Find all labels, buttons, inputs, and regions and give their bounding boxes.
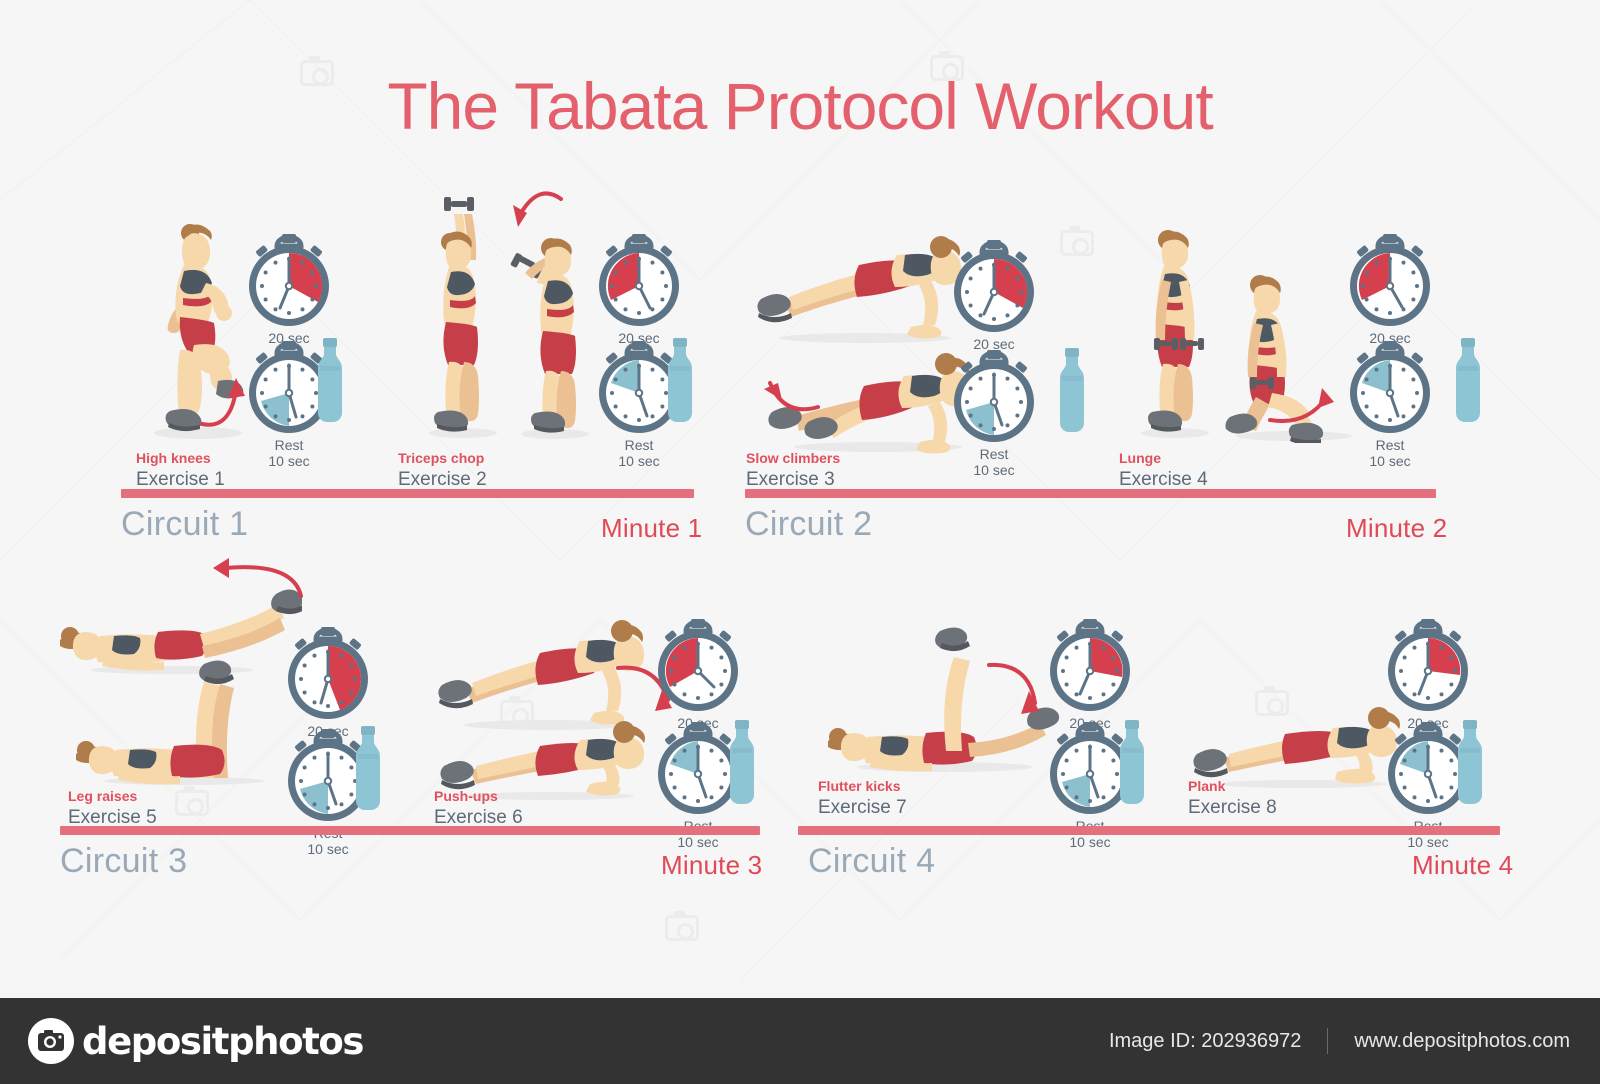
brand-logo[interactable]: depositphotos	[28, 1018, 363, 1064]
footer-bar: depositphotos Image ID: 202936972 www.de…	[0, 998, 1600, 1084]
circuit-label: Circuit 4	[808, 842, 935, 881]
water-bottle-icon	[1450, 720, 1490, 805]
exercise-caption-4: Lunge Exercise 4	[1119, 450, 1208, 491]
exercise-number: Exercise 3	[746, 468, 840, 492]
figure-triceps-chop-a	[418, 190, 508, 440]
watermark-camera-icon	[175, 790, 209, 816]
circuit-divider	[798, 826, 1500, 835]
footer-divider	[1327, 1028, 1328, 1054]
water-bottle-icon	[1448, 338, 1488, 423]
exercise-number: Exercise 1	[136, 468, 225, 492]
exercise-name: Flutter kicks	[818, 778, 907, 796]
camera-logo-icon	[28, 1018, 74, 1064]
stopwatch-rest-caption: Rest 10 sec	[1369, 437, 1410, 469]
water-bottle-icon	[348, 726, 388, 811]
exercise-name: Lunge	[1119, 450, 1208, 468]
stopwatch-work: 20 sec	[1378, 617, 1478, 735]
minute-label: Minute 3	[661, 850, 762, 881]
footer-meta: Image ID: 202936972 www.depositphotos.co…	[1109, 998, 1570, 1084]
exercise-caption-2: Triceps chop Exercise 2	[398, 450, 487, 491]
stopwatch-work: 20 sec	[648, 617, 748, 735]
stopwatch-work: 20 sec	[239, 232, 339, 350]
exercise-number: Exercise 8	[1188, 796, 1277, 820]
stopwatch-work: 20 sec	[944, 238, 1044, 356]
stopwatch-rest: Rest 10 sec	[944, 348, 1044, 478]
exercise-caption-8: Plank Exercise 8	[1188, 778, 1277, 819]
rest-time: 10 sec	[1369, 453, 1410, 469]
stopwatch-rest-caption: Rest 10 sec	[618, 437, 659, 469]
direction-arrow-icon	[756, 355, 828, 419]
rest-time: 10 sec	[618, 453, 659, 469]
water-bottle-icon	[1052, 348, 1092, 433]
watermark-camera-icon	[665, 915, 699, 941]
water-bottle-icon	[660, 338, 700, 423]
rest-time: 10 sec	[268, 453, 309, 469]
rest-time: 10 sec	[307, 841, 348, 857]
stopwatch-rest-caption: Rest 10 sec	[973, 446, 1014, 478]
exercise-name: Plank	[1188, 778, 1277, 796]
dumbbell-icon	[444, 197, 474, 211]
exercise-number: Exercise 2	[398, 468, 487, 492]
water-bottle-icon	[722, 720, 762, 805]
figure-lunge-a	[1130, 218, 1220, 440]
figure-leg-raises-b	[66, 658, 286, 788]
exercise-number: Exercise 7	[818, 796, 907, 820]
circuit-label: Circuit 2	[745, 505, 872, 544]
watermark-camera-icon	[1060, 230, 1094, 256]
exercise-name: Push-ups	[434, 788, 523, 806]
exercise-name: Leg raises	[68, 788, 157, 806]
rest-word: Rest	[268, 437, 309, 453]
minute-label: Minute 1	[601, 513, 702, 544]
exercise-name: Triceps chop	[398, 450, 487, 468]
minute-label: Minute 4	[1412, 850, 1513, 881]
circuit-divider	[745, 489, 1436, 498]
circuit-label: Circuit 3	[60, 842, 187, 881]
brand-name: depositphotos	[82, 1020, 363, 1063]
website-url[interactable]: www.depositphotos.com	[1354, 1030, 1570, 1053]
figure-plank	[1185, 700, 1405, 790]
exercise-caption-1: High knees Exercise 1	[136, 450, 225, 491]
rest-time: 10 sec	[677, 834, 718, 850]
rest-time: 10 sec	[1407, 834, 1448, 850]
water-bottle-icon	[310, 338, 350, 423]
direction-arrow-icon	[1266, 378, 1350, 428]
circuit-divider	[121, 489, 694, 498]
direction-arrow-icon	[205, 552, 310, 608]
direction-arrow-icon	[503, 185, 573, 255]
circuit-divider	[60, 826, 760, 835]
rest-word: Rest	[973, 446, 1014, 462]
water-bottle-icon	[1112, 720, 1152, 805]
rest-time: 10 sec	[1069, 834, 1110, 850]
rest-word: Rest	[1369, 437, 1410, 453]
exercise-name: Slow climbers	[746, 450, 840, 468]
figure-slow-climbers-a	[745, 225, 965, 345]
rest-word: Rest	[618, 437, 659, 453]
rest-time: 10 sec	[973, 462, 1014, 478]
stopwatch-work: 20 sec	[1040, 617, 1140, 735]
stopwatch-work: 20 sec	[1340, 232, 1440, 350]
infographic-canvas: The Tabata Protocol Workout	[0, 0, 1600, 1084]
exercise-caption-7: Flutter kicks Exercise 7	[818, 778, 907, 819]
exercise-caption-3: Slow climbers Exercise 3	[746, 450, 840, 491]
exercise-caption-5: Leg raises Exercise 5	[68, 788, 157, 829]
exercise-number: Exercise 4	[1119, 468, 1208, 492]
exercise-name: High knees	[136, 450, 225, 468]
stopwatch-rest: Rest 10 sec	[1340, 339, 1440, 469]
circuit-label: Circuit 1	[121, 505, 248, 544]
image-id: Image ID: 202936972	[1109, 1030, 1301, 1053]
exercise-caption-6: Push-ups Exercise 6	[434, 788, 523, 829]
stopwatch-rest-caption: Rest 10 sec	[268, 437, 309, 469]
page-title: The Tabata Protocol Workout	[0, 68, 1600, 144]
stopwatch-work: 20 sec	[589, 232, 689, 350]
minute-label: Minute 2	[1346, 513, 1447, 544]
